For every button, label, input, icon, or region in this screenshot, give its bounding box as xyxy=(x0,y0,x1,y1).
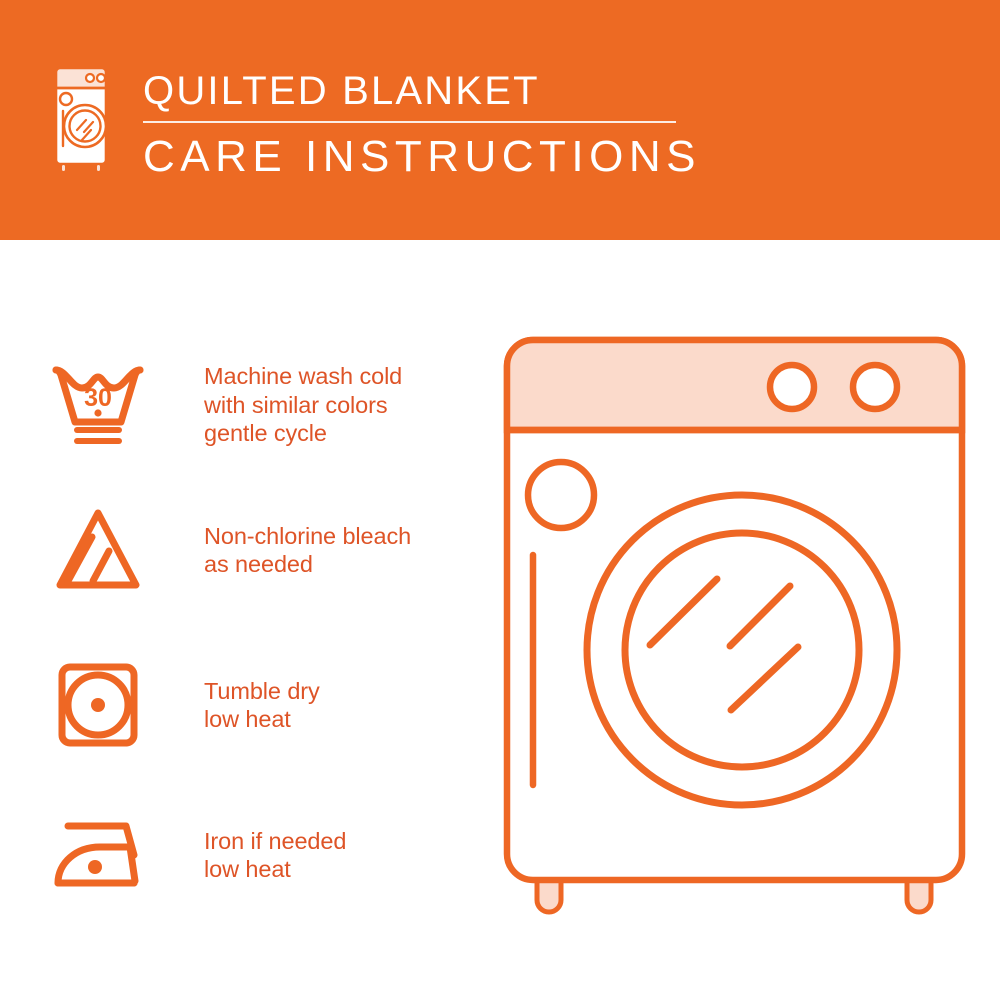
page-title-secondary: CARE INSTRUCTIONS xyxy=(143,132,703,182)
page-title-primary: QUILTED BLANKET xyxy=(143,68,703,114)
list-item: 30 Machine wash cold with similar colors… xyxy=(0,345,500,465)
list-item-label: Machine wash cold with similar colors ge… xyxy=(204,362,402,448)
list-item: Iron if needed low heat xyxy=(0,795,500,915)
care-instructions-page: QUILTED BLANKET CARE INSTRUCTIONS 30 xyxy=(0,0,1000,1000)
washing-machine-icon xyxy=(46,66,108,174)
list-item: Tumble dry low heat xyxy=(0,645,500,765)
detergent-indicator-circle xyxy=(528,462,594,528)
header-banner: QUILTED BLANKET CARE INSTRUCTIONS xyxy=(0,0,1000,240)
front-load-washing-machine-illustration xyxy=(495,330,975,935)
list-item-label: Non-chlorine bleach as needed xyxy=(204,522,411,579)
iron-low-heat-icon xyxy=(48,805,148,905)
drum-inner-ring xyxy=(625,533,859,767)
list-item-label: Tumble dry low heat xyxy=(204,677,320,734)
knob-left xyxy=(770,365,814,409)
knob-right xyxy=(853,365,897,409)
non-chlorine-bleach-triangle-icon xyxy=(48,500,148,600)
list-item: Non-chlorine bleach as needed xyxy=(0,490,500,610)
wash-temperature-value: 30 xyxy=(84,384,112,412)
care-instruction-list: 30 Machine wash cold with similar colors… xyxy=(0,240,500,1000)
title-divider xyxy=(143,121,676,123)
header-title-group: QUILTED BLANKET CARE INSTRUCTIONS xyxy=(143,68,703,182)
list-item-label: Iron if needed low heat xyxy=(204,827,346,884)
machine-wash-30-gentle-icon: 30 xyxy=(48,355,148,455)
tumble-dry-low-heat-icon xyxy=(48,655,148,755)
